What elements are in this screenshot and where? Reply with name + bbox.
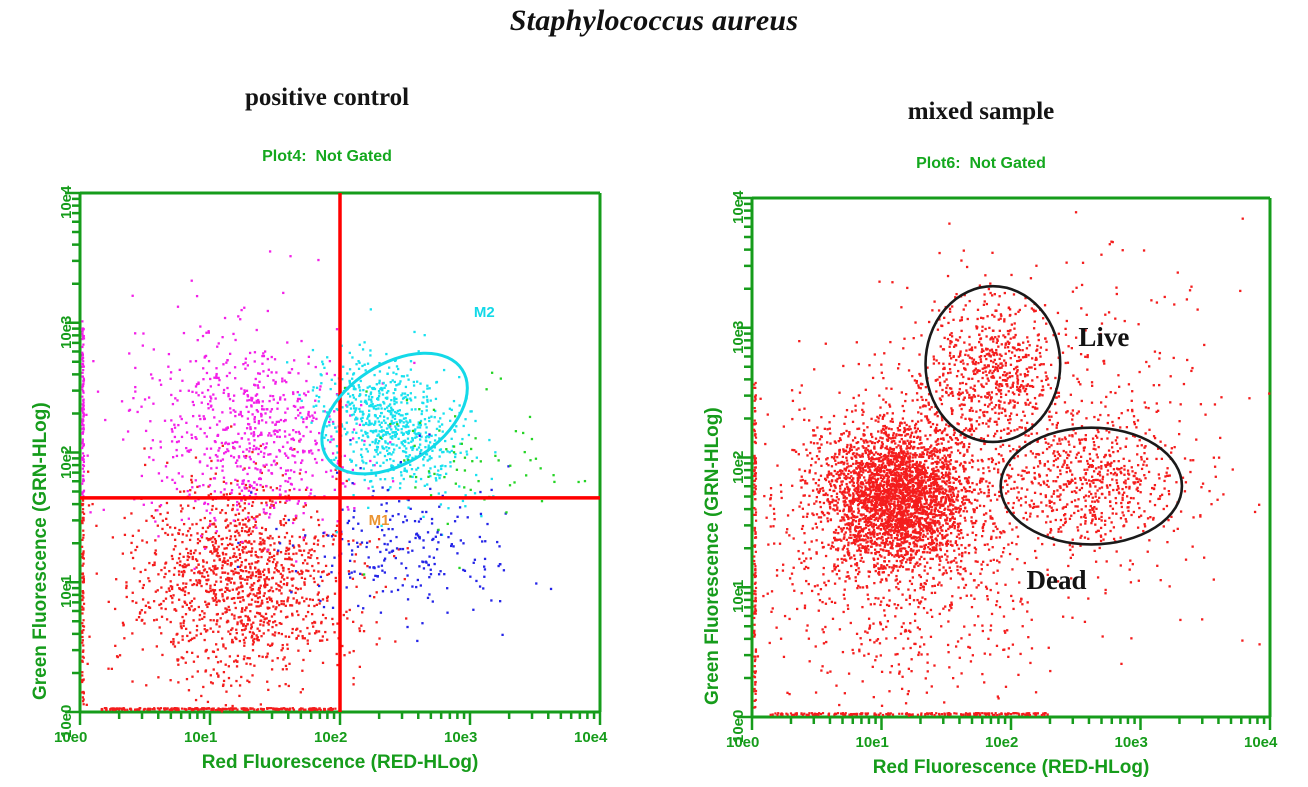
y-tick-label: 10e1 xyxy=(58,575,75,608)
y-axis-label: Green Fluorescence (GRN-HLog) xyxy=(702,407,724,705)
x-tick-label: 10e4 xyxy=(574,729,607,746)
panel-positive-control: positive control Plot4: Not Gated Green … xyxy=(0,0,654,787)
x-tick-label: 10e3 xyxy=(1115,734,1148,751)
x-tick-label: 10e2 xyxy=(314,729,347,746)
y-tick-label: 10e0 xyxy=(58,705,75,738)
x-tick-label: 10e4 xyxy=(1244,734,1277,751)
x-tick-label: 10e1 xyxy=(856,734,889,751)
y-tick-label: 10e1 xyxy=(730,580,747,613)
scatter-plot-canvas[interactable] xyxy=(0,0,654,787)
x-tick-label: 10e1 xyxy=(184,729,217,746)
y-tick-label: 10e2 xyxy=(58,445,75,478)
y-tick-label: 10e3 xyxy=(58,315,75,348)
x-tick-label: 10e2 xyxy=(985,734,1018,751)
gate-label-live[interactable]: Live xyxy=(1078,322,1129,353)
x-tick-label: 10e3 xyxy=(444,729,477,746)
scatter-plot-canvas[interactable] xyxy=(654,0,1308,787)
gate-label-m1[interactable]: M1 xyxy=(369,512,390,529)
x-axis-label: Red Fluorescence (RED-HLog) xyxy=(752,757,1270,779)
y-tick-label: 10e2 xyxy=(730,450,747,483)
figure-root: Staphylococcus aureus positive control P… xyxy=(0,0,1308,787)
gate-label-dead[interactable]: Dead xyxy=(1027,565,1087,596)
x-axis-label: Red Fluorescence (RED-HLog) xyxy=(80,752,600,774)
gate-label-m2[interactable]: M2 xyxy=(474,304,495,321)
y-tick-label: 10e0 xyxy=(730,710,747,743)
y-tick-label: 10e4 xyxy=(58,186,75,219)
panel-mixed-sample: mixed sample Plot6: Not Gated Green Fluo… xyxy=(654,0,1308,787)
y-axis-label: Green Fluorescence (GRN-HLog) xyxy=(30,402,52,700)
y-tick-label: 10e4 xyxy=(730,191,747,224)
y-tick-label: 10e3 xyxy=(730,320,747,353)
